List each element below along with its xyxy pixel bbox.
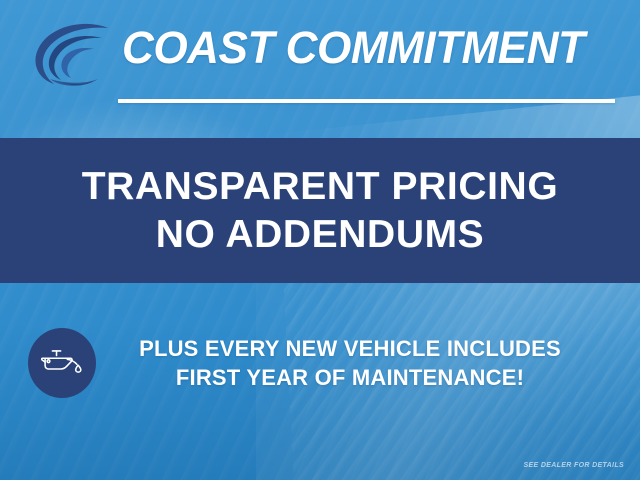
disclaimer-text: SEE DEALER FOR DETAILS — [523, 462, 624, 469]
promo-text: PLUS EVERY NEW VEHICLE INCLUDES FIRST YE… — [96, 334, 640, 393]
headline-line-2: NO ADDENDUMS — [156, 212, 485, 257]
promo-line-1: PLUS EVERY NEW VEHICLE INCLUDES — [102, 334, 598, 363]
brand-title: COAST COMMITMENT — [122, 24, 612, 73]
headline-line-1: TRANSPARENT PRICING — [82, 164, 559, 209]
wave-swirl-icon — [28, 22, 114, 88]
headline-band: TRANSPARENT PRICING NO ADDENDUMS — [0, 138, 640, 283]
oil-can-icon — [41, 347, 83, 380]
promo-line-2: FIRST YEAR OF MAINTENANCE! — [102, 363, 598, 392]
header-divider — [118, 99, 615, 103]
promo-row: PLUS EVERY NEW VEHICLE INCLUDES FIRST YE… — [0, 322, 640, 404]
banner-header: COAST COMMITMENT — [0, 0, 640, 120]
promo-badge — [28, 328, 96, 398]
coast-commitment-banner: COAST COMMITMENT TRANSPARENT PRICING NO … — [0, 0, 640, 480]
